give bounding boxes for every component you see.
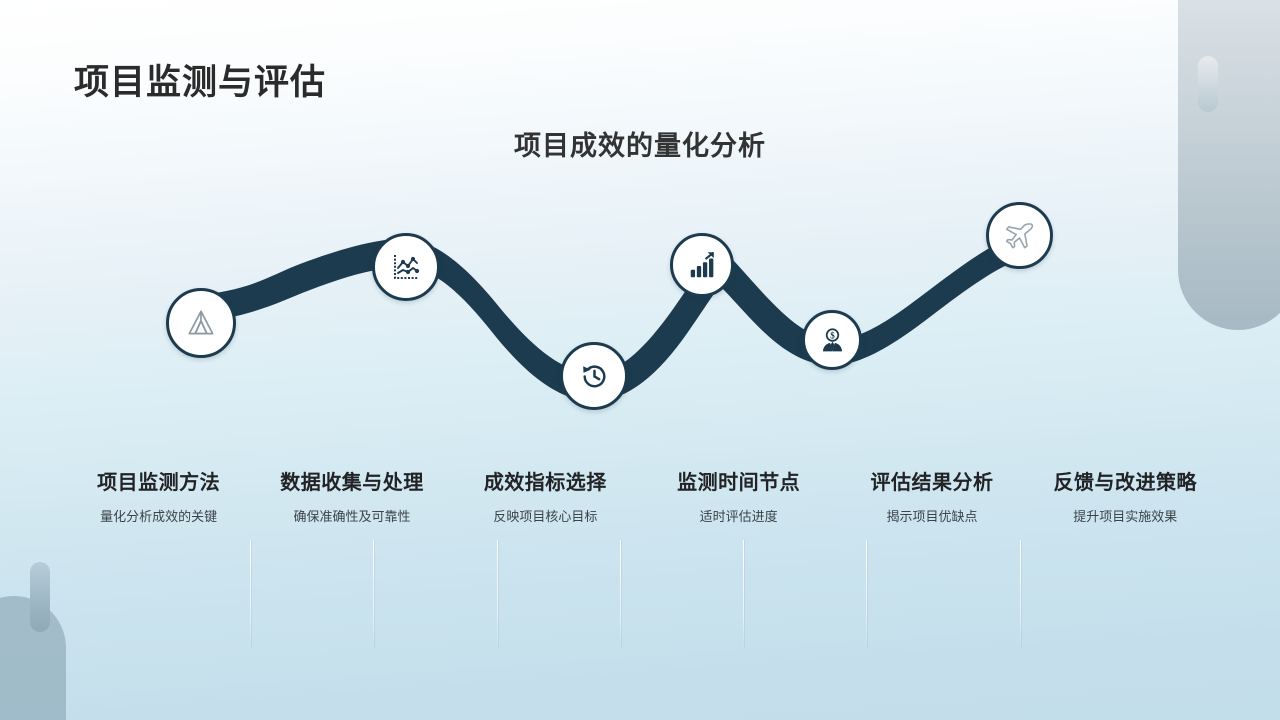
decor-pill-top-right <box>1198 56 1218 112</box>
step-label-6[interactable]: 反馈与改进策略 提升项目实施效果 <box>1029 466 1222 525</box>
step-label-5[interactable]: 评估结果分析 揭示项目优缺点 <box>835 466 1028 525</box>
step-label-1[interactable]: 项目监测方法 量化分析成效的关键 <box>62 466 255 525</box>
slide-canvas: 项目监测与评估 项目成效的量化分析 <box>0 0 1280 720</box>
step-labels-row: 项目监测方法 量化分析成效的关键 数据收集与处理 确保准确性及可靠性 成效指标选… <box>62 466 1222 525</box>
step-label-2[interactable]: 数据收集与处理 确保准确性及可靠性 <box>255 466 448 525</box>
step-subtitle-5: 揭示项目优缺点 <box>839 506 1024 525</box>
section-title: 项目成效的量化分析 <box>0 124 1280 163</box>
step-title-3: 成效指标选择 <box>453 466 638 495</box>
process-node-2[interactable] <box>372 233 440 301</box>
process-node-4[interactable] <box>670 233 734 297</box>
step-subtitle-2: 确保准确性及可靠性 <box>259 506 444 525</box>
svg-text:$: $ <box>830 330 835 340</box>
divider-1 <box>250 540 251 648</box>
divider-5 <box>743 540 744 648</box>
decor-bar-top-right <box>1178 0 1280 330</box>
step-title-4: 监测时间节点 <box>646 466 831 495</box>
column-dividers <box>0 540 1280 650</box>
step-title-5: 评估结果分析 <box>839 466 1024 495</box>
process-node-6[interactable] <box>986 202 1053 269</box>
step-label-4[interactable]: 监测时间节点 适时评估进度 <box>642 466 835 525</box>
divider-7 <box>1020 540 1021 648</box>
divider-2 <box>373 540 374 648</box>
step-title-2: 数据收集与处理 <box>259 466 444 495</box>
triangle-hierarchy-icon <box>184 306 218 340</box>
airplane-icon <box>1003 219 1037 253</box>
person-dollar-icon: $ <box>818 326 847 355</box>
clock-history-icon <box>578 360 611 393</box>
step-title-6: 反馈与改进策略 <box>1033 466 1218 495</box>
step-subtitle-6: 提升项目实施效果 <box>1033 506 1218 525</box>
divider-6 <box>866 540 867 648</box>
divider-4 <box>620 540 621 648</box>
divider-3 <box>497 540 498 648</box>
step-subtitle-3: 反映项目核心目标 <box>453 506 638 525</box>
bar-chart-growth-icon <box>687 250 717 280</box>
step-subtitle-4: 适时评估进度 <box>646 506 831 525</box>
step-label-3[interactable]: 成效指标选择 反映项目核心目标 <box>449 466 642 525</box>
page-title: 项目监测与评估 <box>74 54 326 105</box>
step-title-1: 项目监测方法 <box>66 466 251 495</box>
process-node-3[interactable] <box>560 342 628 410</box>
step-subtitle-1: 量化分析成效的关键 <box>66 506 251 525</box>
process-node-1[interactable] <box>166 288 236 358</box>
process-node-5[interactable]: $ <box>802 310 862 370</box>
line-chart-icon <box>390 251 422 283</box>
